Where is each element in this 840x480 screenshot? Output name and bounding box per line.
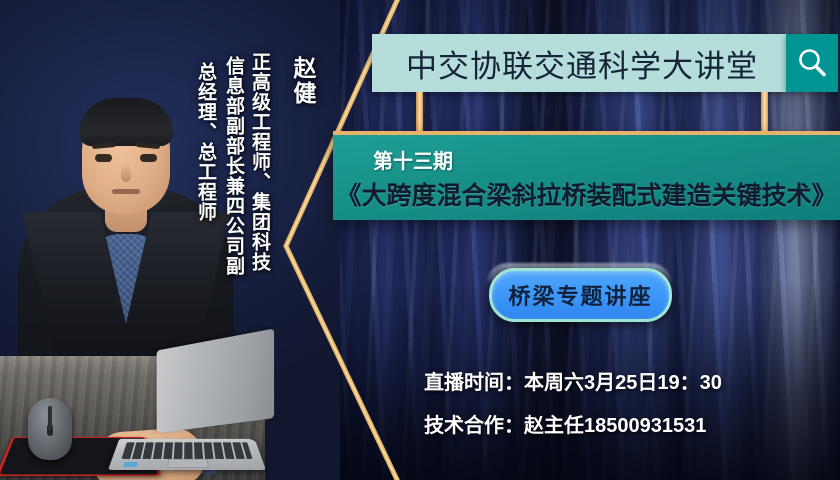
live-stream-promo-poster: 总经理、总工程师 信息部副部长兼四公司副 正高级工程师、集团科技 赵健 中交协联… [0,0,840,480]
left-speaker-panel: 总经理、总工程师 信息部副部长兼四公司副 正高级工程师、集团科技 赵健 [0,0,340,480]
broadcast-time-text: 直播时间：本周六3月25日19：30 [424,366,722,395]
laptop-base [108,439,266,470]
laptop-screen-lid [157,329,274,434]
speaker-credential-column-3: 总经理、总工程师 [192,62,219,222]
laptop-computer [108,342,268,470]
speaker-credential-column-2: 信息部副部长兼四公司副 [220,56,247,276]
laptop-trackpad [167,459,209,468]
mouth [112,189,140,194]
speaker-name: 赵健 [286,56,320,106]
topic-pill-button[interactable]: 桥梁专题讲座 [489,268,672,322]
lecture-title: 《大跨度混合梁斜拉桥装配式建造关键技术》 [333,176,840,212]
topic-pill-label: 桥梁专题讲座 [508,279,652,311]
nose [121,164,131,182]
banner-hanger-left [416,92,423,132]
laptop-keyboard [122,442,253,459]
header-title: 中交协联交通科学大讲堂 [372,41,786,86]
header-banner: 中交协联交通科学大讲堂 [372,34,786,92]
mouse-scroll-wheel [47,424,53,436]
laptop-sticker [123,462,138,467]
banner-hanger-right [761,92,768,132]
eye-left [95,154,112,162]
eye-right [140,154,157,162]
computer-mouse [28,398,72,460]
search-button[interactable] [786,34,838,92]
hair [79,98,173,146]
speaker-credential-column-1: 正高级工程师、集团科技 [246,52,273,272]
search-icon [795,46,829,80]
lecture-issue-number: 第十三期 [373,145,840,174]
lecture-title-board: 第十三期 《大跨度混合梁斜拉桥装配式建造关键技术》 [333,131,840,220]
contact-text: 技术合作：赵主任18500931531 [424,409,706,438]
